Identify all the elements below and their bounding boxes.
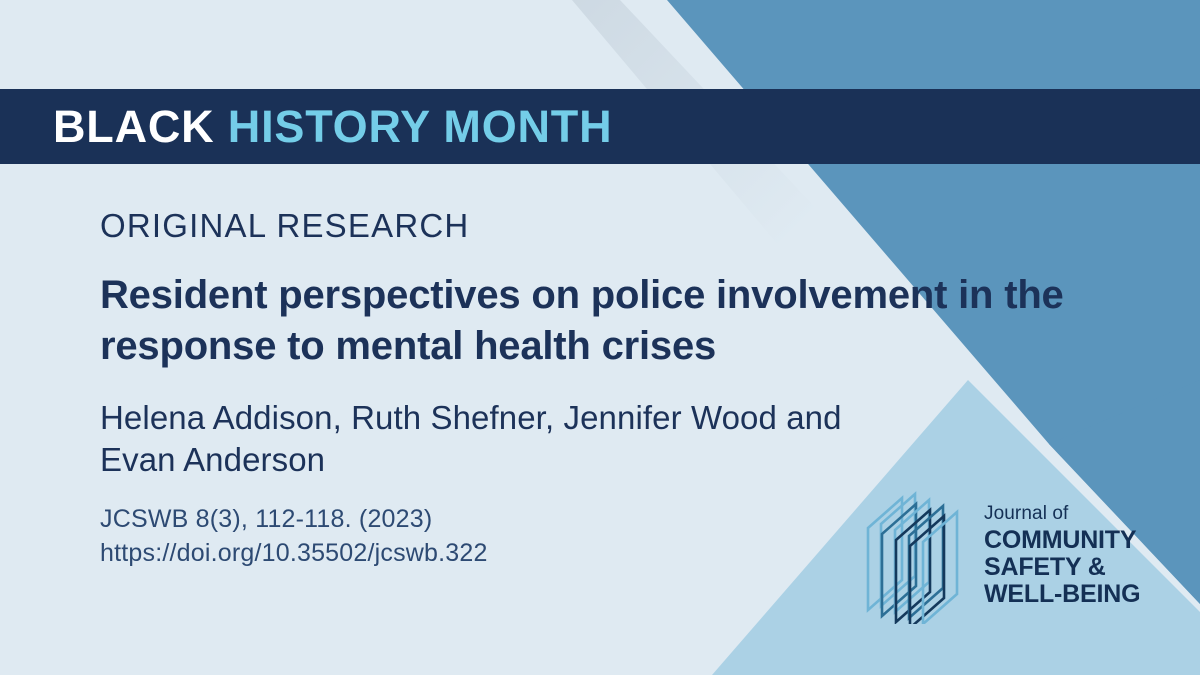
article-promo-card: BLACK HISTORY MONTH ORIGINAL RESEARCH Re… (0, 0, 1200, 675)
journal-logo-wordmark: Journal of COMMUNITY SAFETY & WELL-BEING (984, 504, 1140, 609)
banner-text: BLACK HISTORY MONTH (53, 104, 612, 149)
banner-word-black: BLACK (53, 101, 214, 152)
banner-word-history-month: HISTORY MONTH (228, 101, 613, 152)
article-authors: Helena Addison, Ruth Shefner, Jennifer W… (100, 397, 900, 481)
article-title: Resident perspectives on police involvem… (100, 270, 1140, 372)
journal-logo[interactable]: Journal of COMMUNITY SAFETY & WELL-BEING (862, 486, 1122, 626)
nested-parallelograms-mark-icon (862, 484, 970, 629)
article-kicker: ORIGINAL RESEARCH (100, 208, 1140, 244)
logo-line-safety: SAFETY & (984, 555, 1140, 580)
logo-line-community: COMMUNITY (984, 528, 1140, 553)
logo-line-journal-of: Journal of (984, 504, 1140, 523)
logo-line-wellbeing: WELL-BEING (984, 582, 1140, 607)
black-history-month-banner: BLACK HISTORY MONTH (0, 89, 1200, 164)
